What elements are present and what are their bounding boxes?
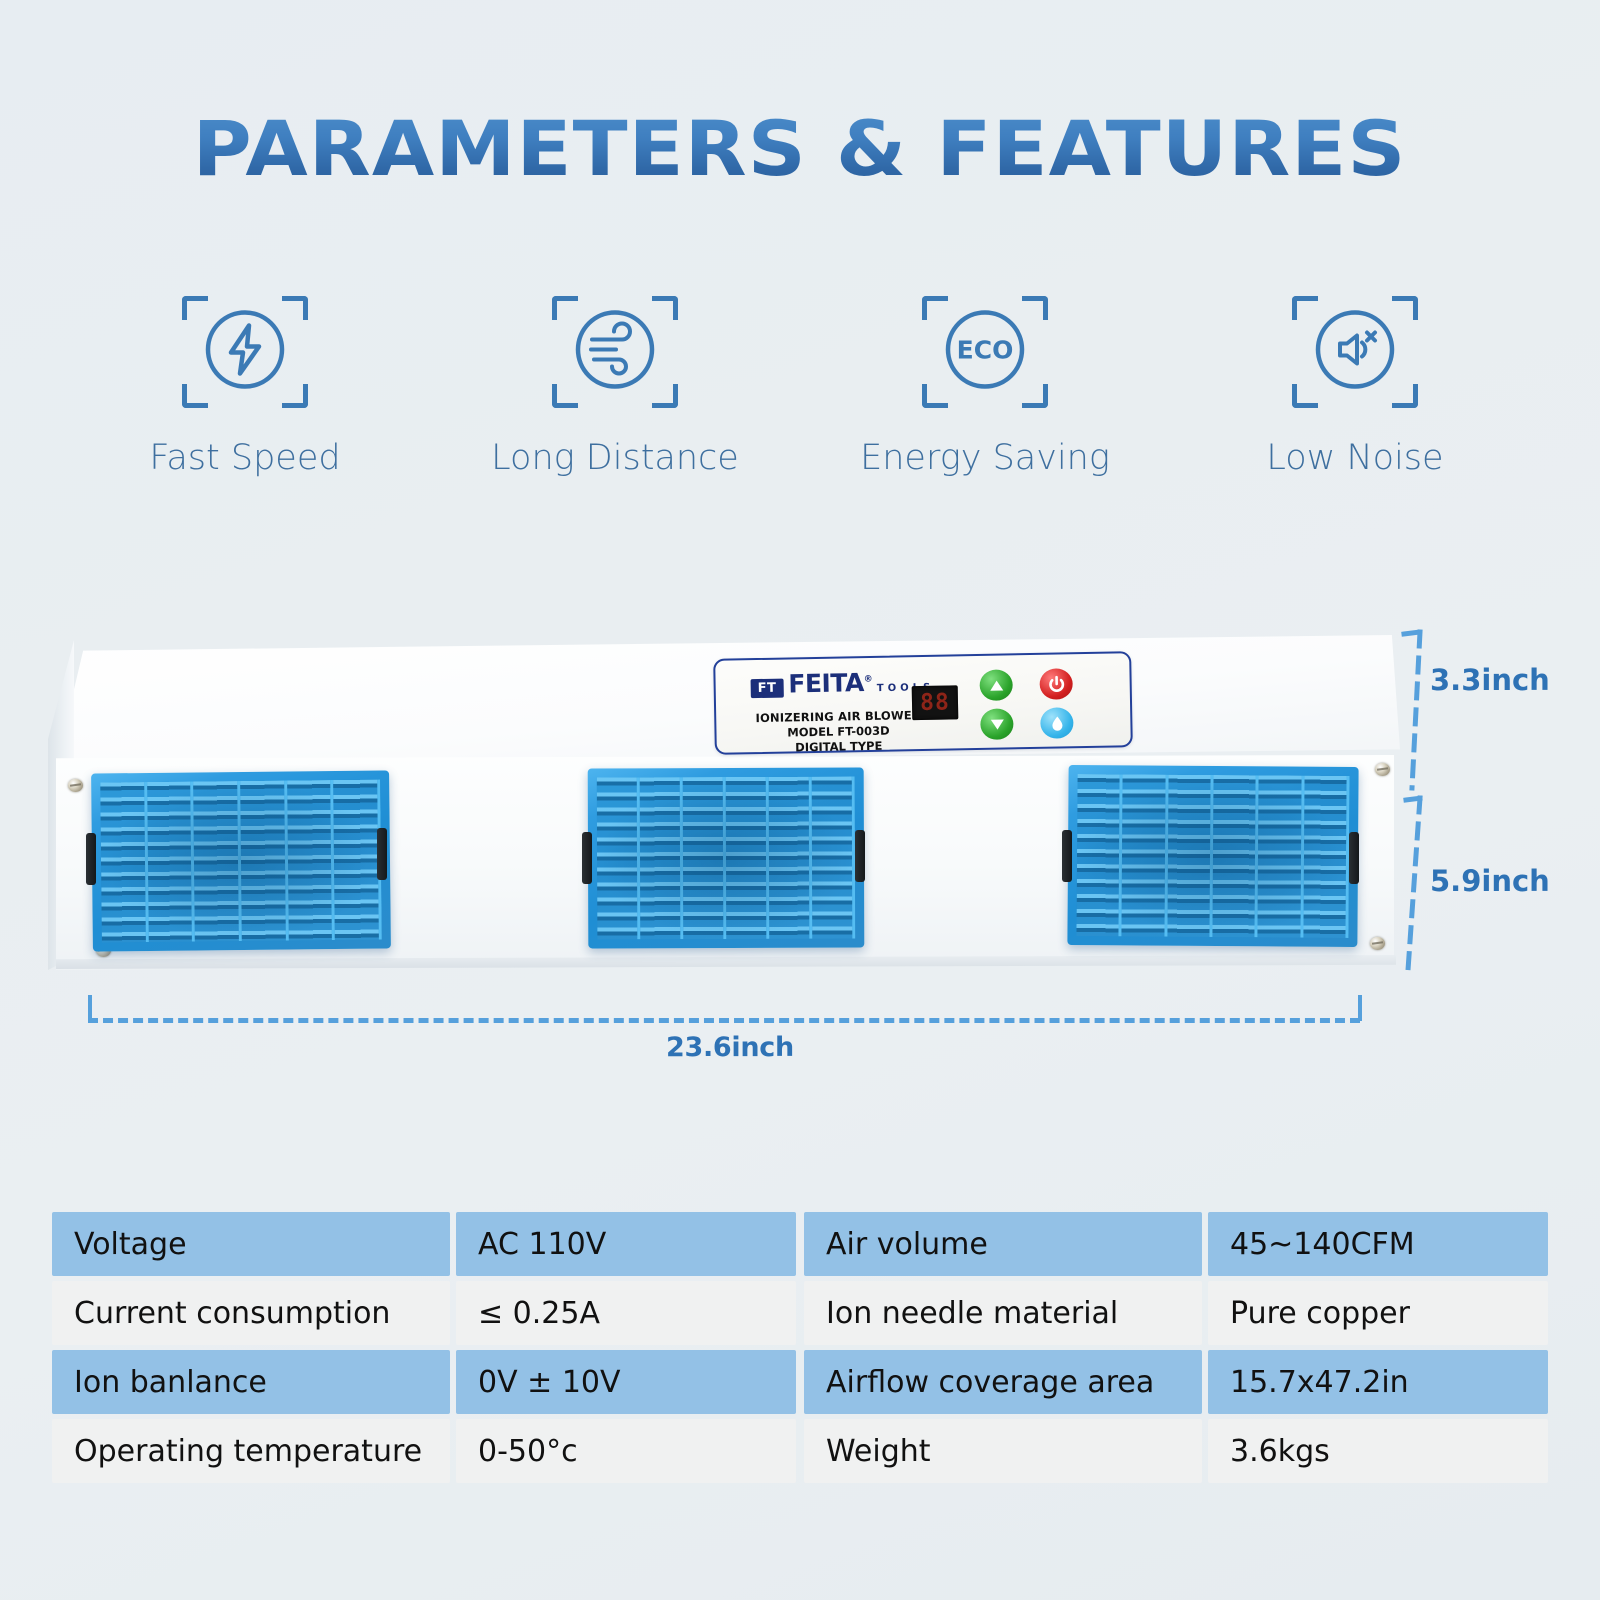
grille-latch-tab[interactable] bbox=[86, 833, 96, 885]
spec-value: Pure copper bbox=[1208, 1281, 1548, 1345]
spec-value: 15.7x47.2in bbox=[1208, 1350, 1548, 1414]
feature-label: Fast Speed bbox=[149, 438, 340, 478]
table-row: Ion needle material Pure copper bbox=[804, 1281, 1548, 1345]
dimension-line-width bbox=[88, 1018, 1360, 1023]
spec-value: 0V ± 10V bbox=[456, 1350, 796, 1414]
icon-frame bbox=[552, 296, 678, 408]
spec-value: 45~140CFM bbox=[1208, 1212, 1548, 1276]
spec-label: Operating temperature bbox=[52, 1419, 450, 1483]
feature-item-fast-speed: Fast Speed bbox=[80, 296, 410, 478]
screw bbox=[68, 779, 83, 792]
screw bbox=[1375, 763, 1390, 776]
page-header: PARAMETERS & FEATURES bbox=[0, 104, 1600, 193]
display-value: 88 bbox=[920, 691, 950, 715]
grille-inner bbox=[1076, 774, 1349, 938]
product-image: FT FEITA® TOOLS IONIZERING AIR BLOWER MO… bbox=[0, 600, 1600, 1130]
screw bbox=[1370, 937, 1385, 950]
triangle-up-icon bbox=[988, 677, 1005, 693]
ion-drop-icon bbox=[1049, 714, 1065, 732]
dimension-label-width: 23.6inch bbox=[666, 1032, 794, 1063]
table-row: Operating temperature 0-50°c bbox=[52, 1419, 796, 1483]
table-row: Airflow coverage area 15.7x47.2in bbox=[804, 1350, 1548, 1414]
lightning-bolt-icon bbox=[202, 307, 288, 398]
spec-value: AC 110V bbox=[456, 1212, 796, 1276]
grille-latch-tab[interactable] bbox=[582, 832, 592, 884]
feature-label: Low Noise bbox=[1266, 438, 1443, 478]
power-icon bbox=[1047, 675, 1065, 693]
page-title: PARAMETERS & FEATURES bbox=[193, 104, 1407, 193]
brand-logo: FT FEITA® TOOLS bbox=[750, 668, 934, 699]
spec-label: Airflow coverage area bbox=[804, 1350, 1202, 1414]
button-cluster bbox=[979, 668, 1098, 740]
table-row: Voltage AC 110V bbox=[52, 1212, 796, 1276]
dimension-label-height: 3.3inch bbox=[1430, 663, 1550, 697]
ion-button[interactable] bbox=[1040, 707, 1074, 739]
triangle-down-icon bbox=[988, 716, 1005, 732]
grille-latch-tab[interactable] bbox=[855, 830, 865, 882]
air-outlet-grille bbox=[1067, 765, 1358, 947]
feature-item-low-noise: Low Noise bbox=[1190, 296, 1520, 478]
mute-speaker-icon bbox=[1312, 307, 1398, 398]
feature-list: Fast Speed Long Distance bbox=[80, 296, 1520, 478]
wind-flow-icon bbox=[572, 307, 658, 398]
dimension-tick-right bbox=[1358, 995, 1362, 1021]
spec-label: Weight bbox=[804, 1419, 1202, 1483]
feature-label: Energy Saving bbox=[860, 438, 1110, 478]
spec-label: Ion needle material bbox=[804, 1281, 1202, 1345]
feature-item-energy-saving: ECO Energy Saving bbox=[820, 296, 1150, 478]
icon-frame: ECO bbox=[922, 296, 1048, 408]
grille-inner bbox=[100, 780, 382, 943]
spec-label: Ion banlance bbox=[52, 1350, 450, 1414]
grille-latch-tab[interactable] bbox=[377, 828, 387, 880]
feature-label: Long Distance bbox=[491, 438, 739, 478]
up-button[interactable] bbox=[979, 669, 1013, 701]
grille-latch-tab[interactable] bbox=[1349, 832, 1359, 884]
table-row: Air volume 45~140CFM bbox=[804, 1212, 1548, 1276]
specification-table: Voltage AC 110V Current consumption ≤ 0.… bbox=[52, 1212, 1548, 1483]
panel-model-text: IONIZERING AIR BLOWER MODEL FT-003D DIGI… bbox=[738, 708, 939, 757]
table-row: Current consumption ≤ 0.25A bbox=[52, 1281, 796, 1345]
spec-label: Current consumption bbox=[52, 1281, 450, 1345]
spec-value: ≤ 0.25A bbox=[456, 1281, 796, 1345]
air-outlet-grille bbox=[588, 768, 865, 949]
spec-value: 3.6kgs bbox=[1208, 1419, 1548, 1483]
icon-frame bbox=[1292, 296, 1418, 408]
dimension-tick-left bbox=[88, 995, 92, 1021]
spec-table-left-half: Voltage AC 110V Current consumption ≤ 0.… bbox=[52, 1212, 796, 1483]
spec-label: Voltage bbox=[52, 1212, 450, 1276]
spec-table-right-half: Air volume 45~140CFM Ion needle material… bbox=[804, 1212, 1548, 1483]
table-row: Weight 3.6kgs bbox=[804, 1419, 1548, 1483]
icon-frame bbox=[182, 296, 308, 408]
ft-monogram-icon: FT bbox=[751, 679, 784, 699]
spec-label: Air volume bbox=[804, 1212, 1202, 1276]
down-button[interactable] bbox=[980, 708, 1014, 740]
air-outlet-grille bbox=[91, 770, 391, 951]
grille-latch-tab[interactable] bbox=[1062, 830, 1072, 882]
registered-mark: ® bbox=[864, 675, 873, 685]
spec-value: 0-50°c bbox=[456, 1419, 796, 1483]
eco-icon: ECO bbox=[942, 307, 1028, 398]
seven-segment-display: 88 bbox=[912, 685, 959, 720]
control-panel[interactable]: FT FEITA® TOOLS IONIZERING AIR BLOWER MO… bbox=[713, 651, 1133, 755]
svg-text:ECO: ECO bbox=[957, 336, 1014, 365]
table-row: Ion banlance 0V ± 10V bbox=[52, 1350, 796, 1414]
grille-inner bbox=[597, 777, 856, 940]
power-button[interactable] bbox=[1039, 668, 1073, 700]
brand-name: FEITA® bbox=[788, 668, 872, 699]
feature-item-long-distance: Long Distance bbox=[450, 296, 780, 478]
dimension-label-depth: 5.9inch bbox=[1430, 864, 1550, 898]
